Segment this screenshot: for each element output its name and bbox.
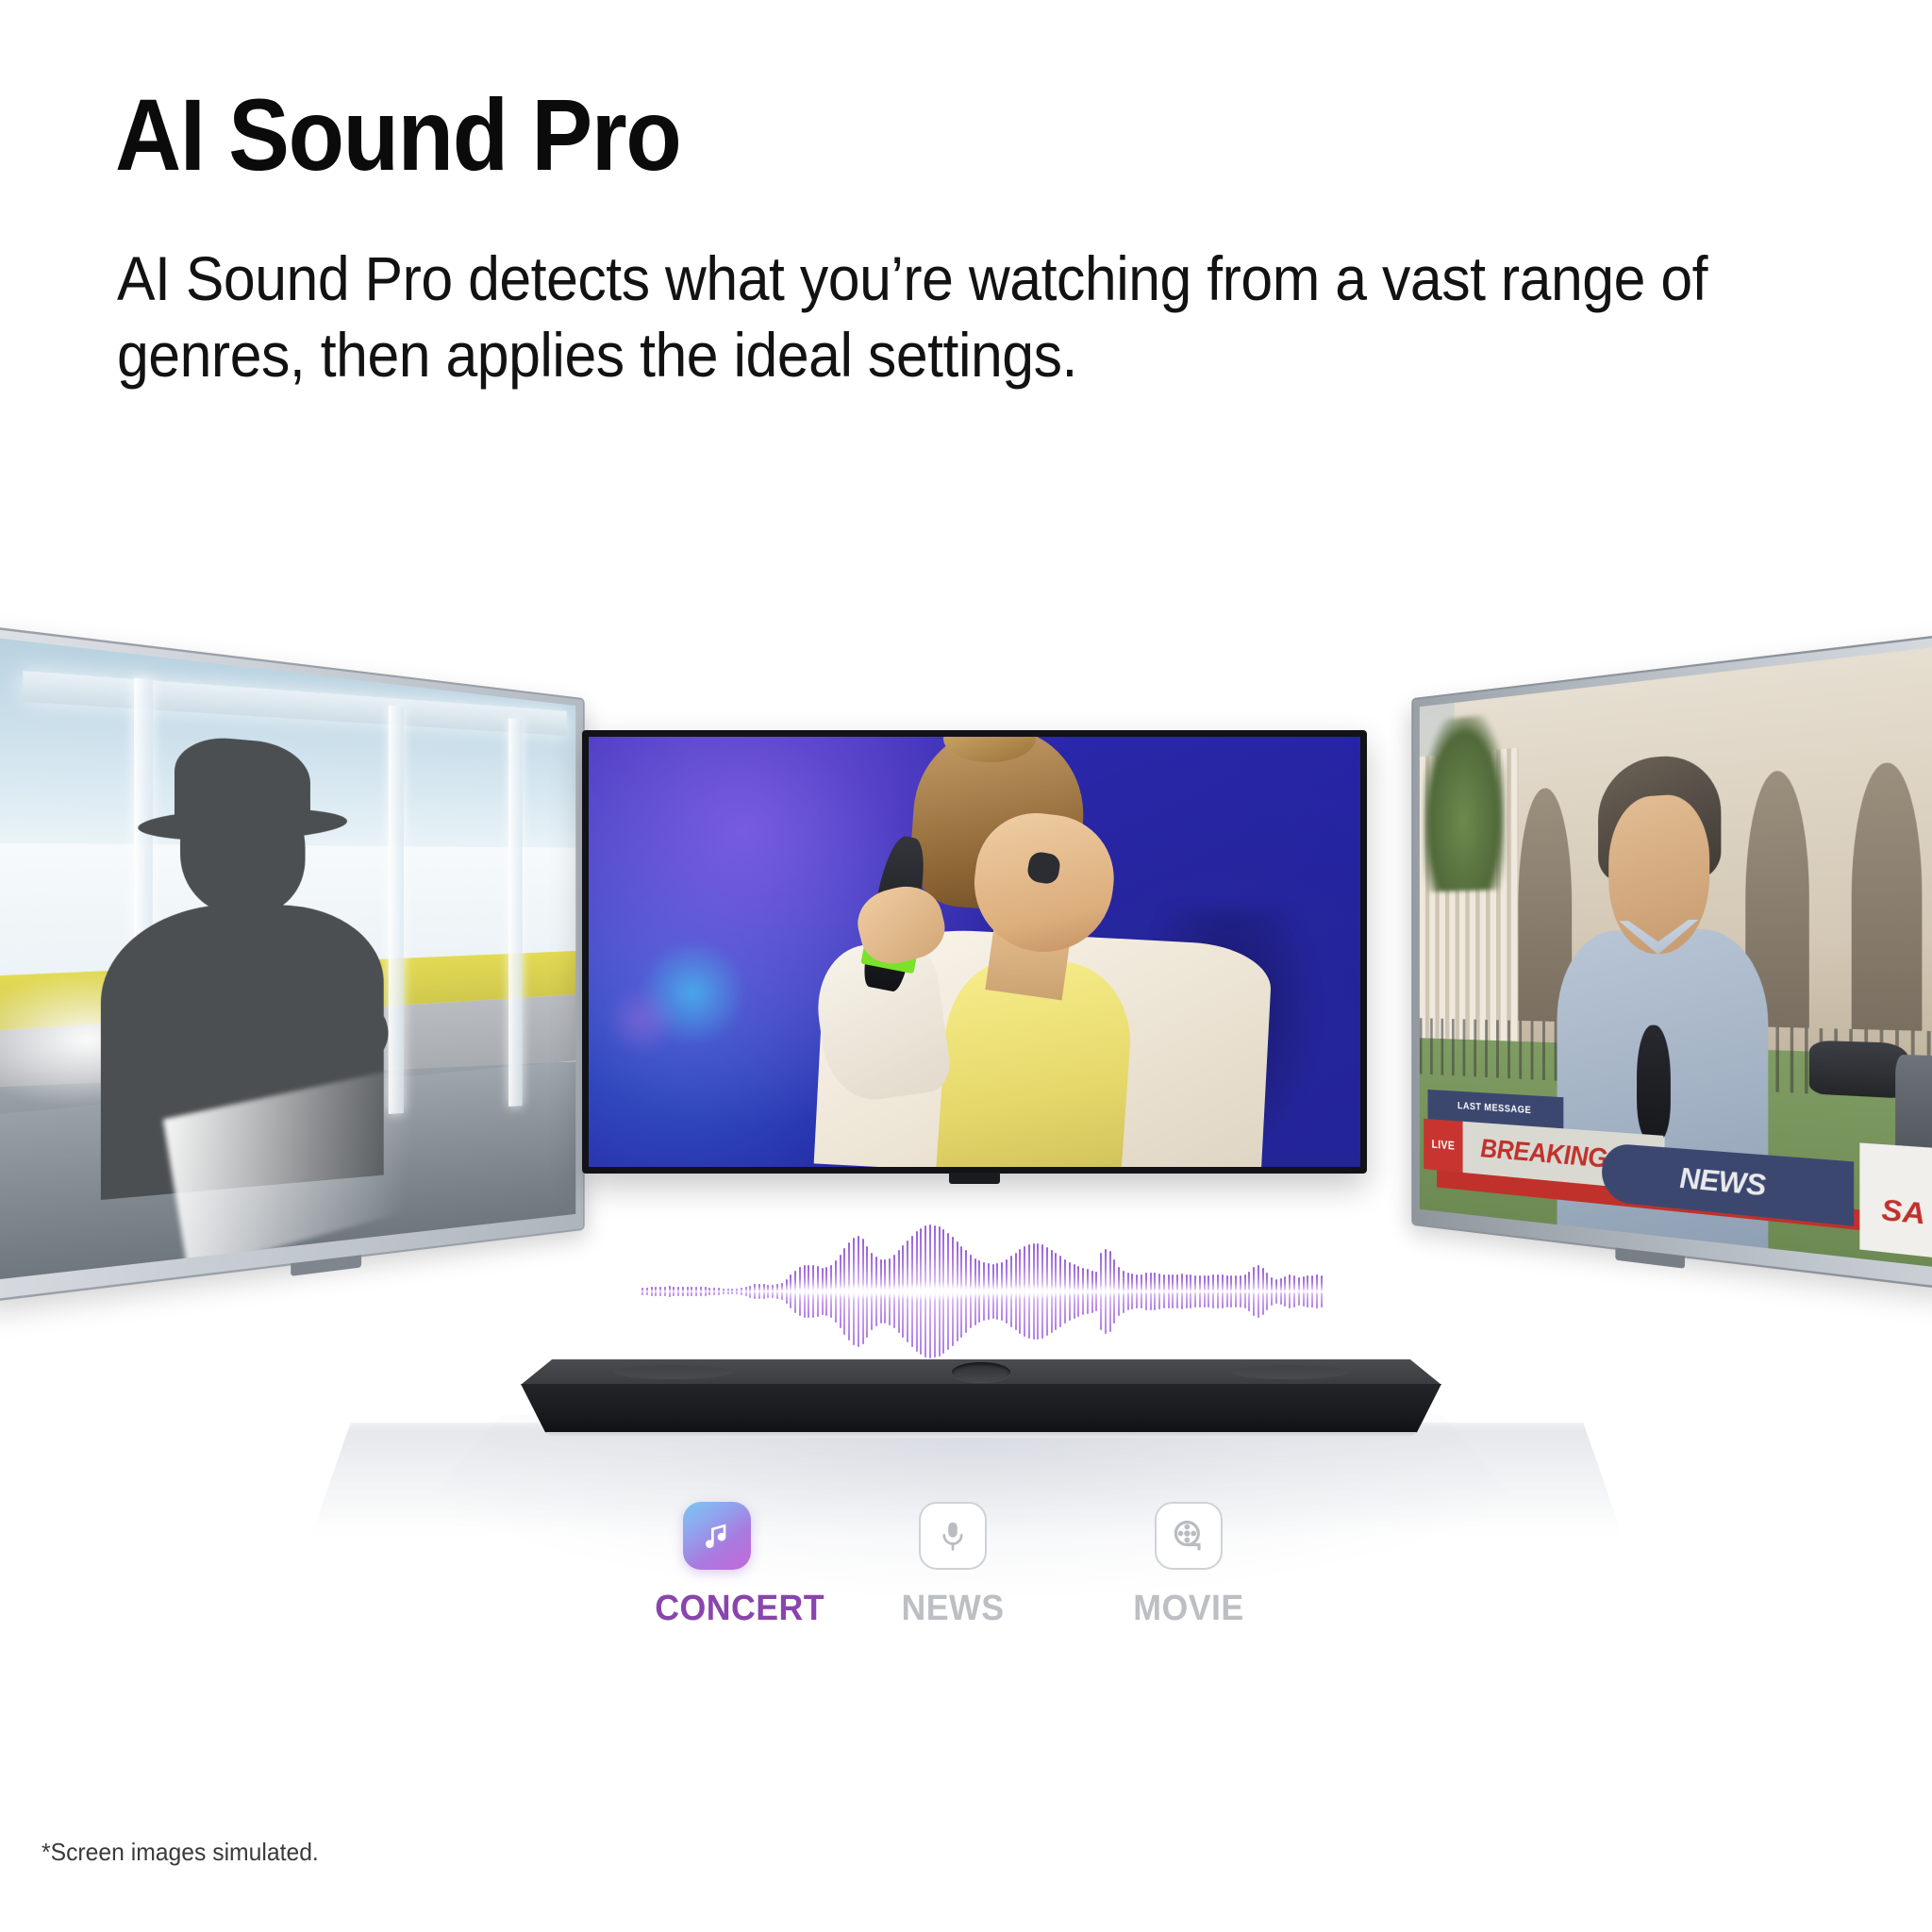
waveform-bar (1091, 1271, 1093, 1313)
waveform-bar (677, 1287, 679, 1297)
waveform-bar (1235, 1275, 1237, 1307)
waveform-bar (1006, 1259, 1008, 1324)
waveform-bar (974, 1258, 976, 1325)
waveform-bar (1064, 1259, 1066, 1324)
page-root: AI Sound Pro AI Sound Pro detects what y… (0, 0, 1932, 1932)
tv-left-bezel (0, 626, 583, 1301)
sound-mode-concert-label: CONCERT (655, 1589, 779, 1629)
waveform-bar (920, 1228, 922, 1356)
waveform-bar (705, 1287, 707, 1296)
news-tree (1424, 712, 1504, 892)
soundbar-top-surface (521, 1359, 1441, 1385)
waveform-bar (1109, 1251, 1111, 1331)
waveform-bar (1001, 1262, 1003, 1322)
waveform-bar (817, 1266, 819, 1316)
news-live-label: LIVE (1432, 1138, 1456, 1153)
waveform-bar (1257, 1265, 1259, 1319)
waveform-bar (1222, 1274, 1224, 1308)
waveform-bar (822, 1268, 824, 1316)
soundbar-device (521, 1359, 1441, 1441)
waveform-bar (786, 1279, 788, 1304)
news-channel-badge: SA (1860, 1143, 1932, 1259)
waveform-bar (790, 1274, 791, 1308)
waveform-bar (736, 1289, 738, 1294)
microphone-icon[interactable] (919, 1502, 987, 1570)
waveform-bar (840, 1255, 841, 1328)
waveform-bar (1321, 1275, 1323, 1307)
waveform-bar (1212, 1274, 1214, 1308)
silhouette-hat-brim (137, 807, 348, 845)
waveform-bar (794, 1271, 796, 1313)
news-ticker-top-label: LAST MESSAGE (1457, 1101, 1531, 1116)
waveform-bar (1190, 1274, 1191, 1308)
waveform-bar (1136, 1274, 1138, 1308)
waveform-bar (1181, 1274, 1183, 1309)
soundbar-left-grille (613, 1365, 733, 1379)
waveform-bar (673, 1287, 675, 1297)
waveform-bar (1316, 1274, 1318, 1308)
waveform-bar (1100, 1253, 1102, 1331)
waveform-bar (1204, 1275, 1206, 1307)
waveform-bar (1015, 1253, 1017, 1331)
waveform-bar (1028, 1244, 1030, 1338)
waveform-bar (758, 1284, 760, 1300)
concert-spotlight-magenta (604, 986, 681, 1055)
waveform-bar (1293, 1275, 1295, 1307)
waveform-bar (1158, 1274, 1160, 1309)
waveform-bar (727, 1289, 729, 1294)
waveform-bar (691, 1287, 692, 1296)
movie-window-mullion (389, 706, 404, 1113)
tv-left-movie (0, 626, 583, 1301)
waveform-bar (898, 1250, 900, 1333)
waveform-bar (1118, 1267, 1120, 1316)
soundbar-right-grille (1230, 1365, 1350, 1379)
waveform-bar (942, 1229, 944, 1353)
waveform-bar (1311, 1275, 1313, 1307)
waveform-bar (996, 1263, 998, 1319)
news-arch (1852, 759, 1922, 1031)
waveform-bar (978, 1260, 980, 1322)
waveform-bar (655, 1287, 657, 1296)
waveform-bar (1082, 1268, 1084, 1315)
waveform-bar (1131, 1274, 1133, 1309)
waveform-bar (1271, 1277, 1273, 1307)
waveform-bar (1113, 1259, 1115, 1324)
waveform-bar (1284, 1276, 1286, 1307)
news-car (1809, 1041, 1908, 1099)
waveform-bar (893, 1255, 895, 1328)
waveform-bar (1105, 1249, 1107, 1334)
waveform-bar (934, 1225, 936, 1358)
waveform-bar (1217, 1274, 1219, 1309)
waveform-bar (1248, 1272, 1250, 1312)
sound-mode-news[interactable]: NEWS (887, 1502, 1019, 1629)
waveform-bar (992, 1264, 994, 1319)
waveform-bar (952, 1237, 954, 1346)
soundbar-base (544, 1432, 1417, 1438)
waveform-bar (911, 1236, 913, 1347)
tv-right-bezel: LAST MESSAGE LIVE BREAKING NEWS SA (1413, 634, 1932, 1289)
waveform-bar (1307, 1275, 1308, 1307)
waveform-bar (776, 1284, 778, 1298)
waveform-bar (866, 1246, 868, 1338)
waveform-bar (1037, 1243, 1039, 1340)
waveform-bar (1059, 1256, 1061, 1327)
waveform-bar (1163, 1274, 1165, 1309)
waveform-bar (1024, 1246, 1025, 1337)
music-note-icon[interactable] (683, 1502, 751, 1570)
waveform-bar (682, 1287, 684, 1296)
waveform-bar (853, 1238, 855, 1345)
waveform-bar (835, 1260, 837, 1323)
waveform-bar (700, 1287, 702, 1297)
news-breaking-label: BREAKING (1480, 1133, 1607, 1174)
concert-screen (589, 737, 1360, 1167)
waveform-bar (1253, 1267, 1255, 1316)
audio-waveform (641, 1224, 1323, 1358)
waveform-bar (1041, 1244, 1043, 1338)
waveform-bar (970, 1255, 972, 1328)
page-subtitle: AI Sound Pro detects what you’re watchin… (117, 241, 1731, 392)
waveform-bar (1154, 1273, 1156, 1309)
waveform-bar (1168, 1274, 1170, 1308)
waveform-bar (804, 1265, 806, 1318)
waveform-bar (754, 1284, 756, 1298)
waveform-bar (669, 1286, 671, 1297)
waveform-bar (825, 1267, 827, 1316)
waveform-bar (957, 1241, 958, 1342)
waveform-bar (1010, 1256, 1012, 1327)
waveform-bar (1019, 1249, 1021, 1334)
waveform-bar (781, 1283, 783, 1301)
sound-mode-concert[interactable]: CONCERT (651, 1502, 783, 1629)
waveform-bar (947, 1233, 949, 1350)
reporter-face (1608, 791, 1710, 953)
waveform-bar (659, 1287, 661, 1297)
film-reel-icon[interactable] (1155, 1502, 1223, 1570)
soundbar-center-dimple (952, 1362, 1010, 1382)
waveform-bar (875, 1257, 877, 1325)
waveform-bar (808, 1265, 809, 1319)
movie-screen (0, 637, 575, 1281)
waveform-bar (916, 1231, 918, 1352)
waveform-bar (924, 1225, 926, 1357)
waveform-bar (1266, 1273, 1268, 1309)
waveform-bar (871, 1253, 873, 1331)
waveform-bar (1298, 1277, 1300, 1307)
waveform-bar (799, 1267, 801, 1316)
waveform-bar (641, 1288, 643, 1294)
tv-center-stand (949, 1173, 1000, 1184)
waveform-bar (687, 1287, 689, 1296)
waveform-bar (965, 1250, 967, 1333)
sound-mode-movie[interactable]: MOVIE (1123, 1502, 1255, 1629)
waveform-bar (731, 1289, 733, 1294)
waveform-bar (884, 1259, 886, 1324)
waveform-bar (1077, 1266, 1079, 1316)
waveform-bars (641, 1224, 1323, 1358)
waveform-bar (1127, 1273, 1129, 1310)
tv-center-bezel (582, 730, 1367, 1174)
waveform-bar (741, 1288, 742, 1294)
waveform-bar (651, 1287, 653, 1296)
waveform-bar (772, 1285, 774, 1298)
waveform-bar (745, 1287, 747, 1296)
waveform-bar (848, 1242, 850, 1341)
waveform-bar (1145, 1273, 1147, 1309)
waveform-bar (664, 1287, 666, 1297)
waveform-bar (988, 1263, 990, 1319)
waveform-bar (1141, 1274, 1142, 1309)
sound-mode-list: CONCERT NEWS (651, 1502, 1311, 1672)
waveform-bar (1280, 1278, 1282, 1305)
waveform-bar (1087, 1269, 1089, 1313)
news-channel-label: SA (1881, 1192, 1924, 1232)
waveform-bar (862, 1239, 864, 1343)
waveform-bar (858, 1236, 859, 1347)
disclaimer-footnote: *Screen images simulated. (42, 1838, 319, 1867)
waveform-bar (1150, 1273, 1152, 1310)
waveform-bar (1303, 1276, 1305, 1307)
waveform-bar (1289, 1274, 1291, 1308)
waveform-bar (907, 1241, 908, 1343)
waveform-bar (1244, 1274, 1246, 1309)
waveform-bar (1051, 1250, 1053, 1334)
waveform-bar (695, 1287, 697, 1297)
waveform-bar (1230, 1275, 1232, 1307)
waveform-bar (830, 1265, 832, 1319)
waveform-bar (1055, 1253, 1057, 1331)
waveform-bar (646, 1288, 648, 1295)
waveform-bar (1069, 1262, 1071, 1322)
sound-mode-movie-label: MOVIE (1126, 1589, 1251, 1629)
waveform-bar (1172, 1274, 1174, 1308)
waveform-bar (880, 1259, 882, 1324)
waveform-bar (843, 1248, 845, 1335)
waveform-bar (749, 1286, 751, 1298)
news-news-panel: NEWS (1603, 1142, 1855, 1226)
waveform-bar (713, 1288, 715, 1294)
waveform-bar (1186, 1274, 1188, 1309)
page-title: AI Sound Pro (115, 81, 680, 189)
waveform-bar (1074, 1264, 1075, 1319)
waveform-bar (763, 1284, 765, 1298)
waveform-bar (1176, 1274, 1178, 1309)
waveform-bar (812, 1265, 814, 1318)
waveform-bar (1275, 1279, 1277, 1304)
waveform-bar (718, 1288, 720, 1294)
waveform-bar (1095, 1272, 1097, 1312)
waveform-bar (723, 1289, 724, 1294)
tv-right-news: LAST MESSAGE LIVE BREAKING NEWS SA (1413, 634, 1932, 1289)
waveform-bar (1226, 1275, 1228, 1307)
waveform-bar (1194, 1275, 1196, 1307)
waveform-bar (1046, 1247, 1048, 1337)
waveform-bar (1123, 1271, 1124, 1313)
movie-window-mullion (508, 719, 523, 1107)
soundbar-front-face (521, 1384, 1441, 1433)
waveform-bar (889, 1258, 891, 1325)
tv-center-concert (582, 730, 1367, 1174)
sound-mode-news-label: NEWS (891, 1589, 1015, 1629)
waveform-bar (902, 1245, 904, 1338)
waveform-bar (960, 1246, 962, 1338)
waveform-bar (1262, 1268, 1264, 1315)
news-news-label: NEWS (1679, 1161, 1765, 1204)
news-live-badge: LIVE (1424, 1119, 1462, 1173)
waveform-bar (1207, 1275, 1209, 1307)
waveform-bar (939, 1226, 941, 1356)
waveform-bar (767, 1285, 769, 1298)
waveform-bar (1240, 1275, 1241, 1307)
waveform-bar (983, 1262, 985, 1321)
waveform-bar (1033, 1243, 1035, 1340)
waveform-bar (708, 1288, 710, 1295)
waveform-bar (1199, 1275, 1201, 1307)
news-screen: LAST MESSAGE LIVE BREAKING NEWS SA (1420, 645, 1932, 1270)
waveform-bar (929, 1224, 931, 1358)
